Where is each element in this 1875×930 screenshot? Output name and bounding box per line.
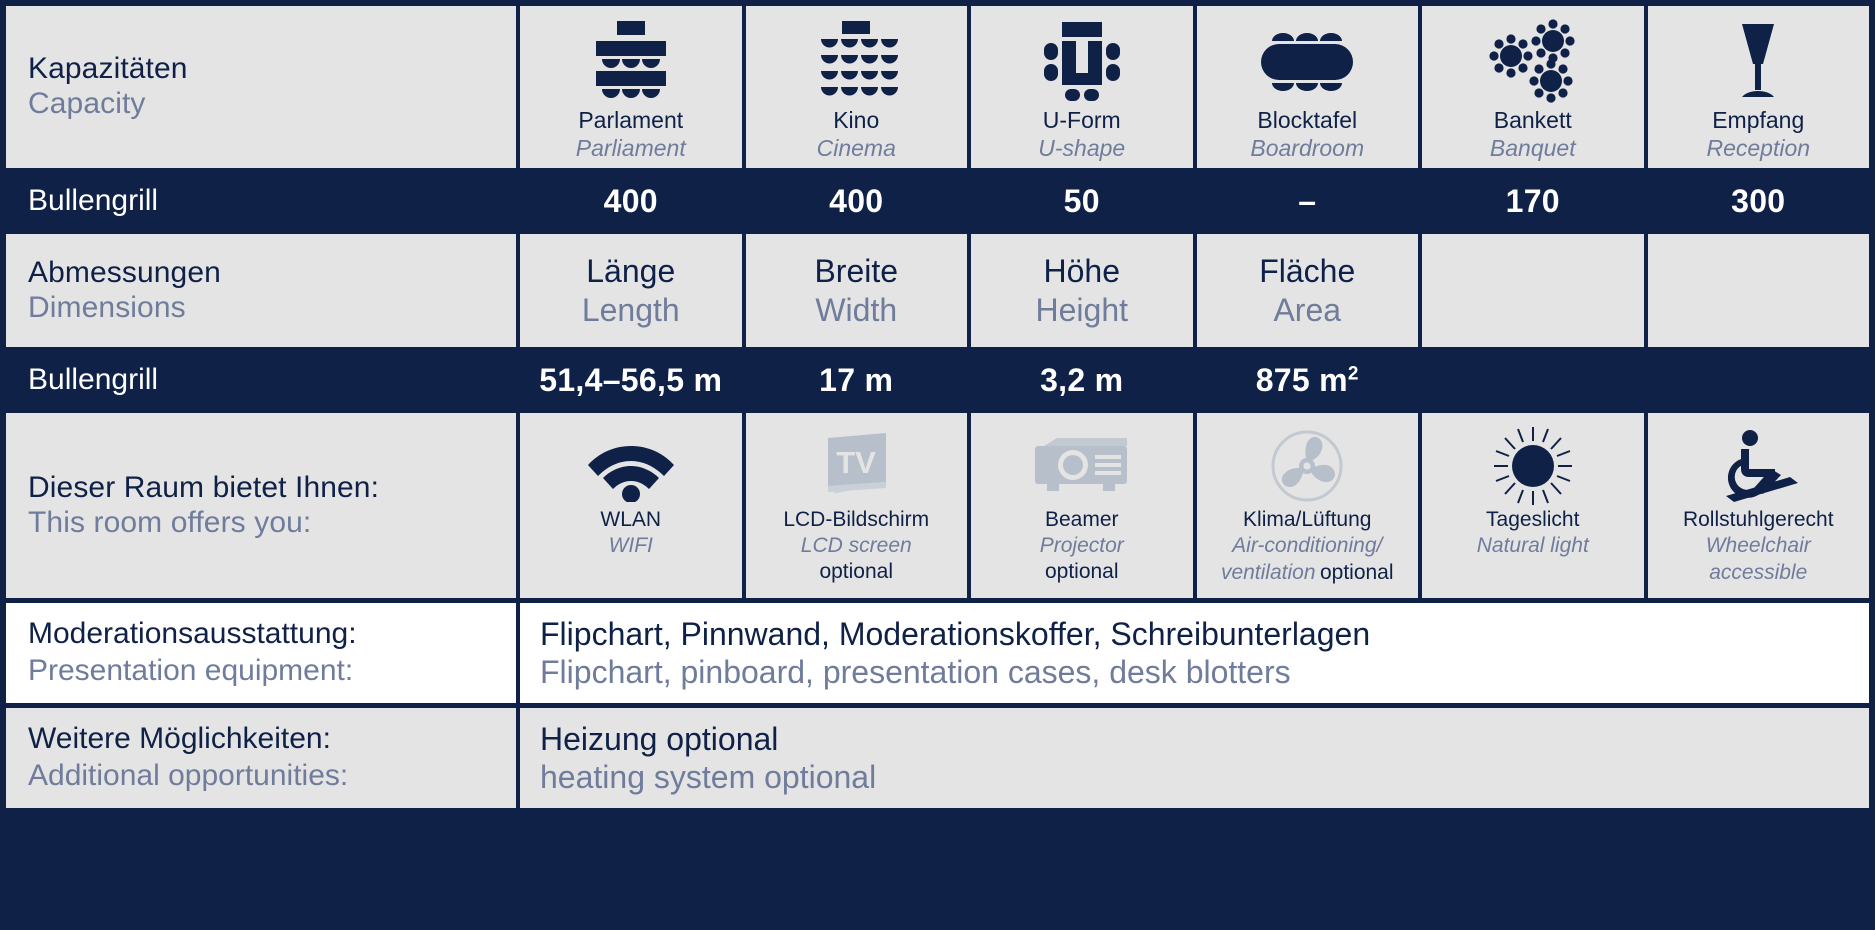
capacity-column-banquet: Bankett Banquet (1422, 6, 1644, 168)
amenity-projector: Beamer Projector optional (971, 413, 1193, 598)
amenities-row-label: Dieser Raum bietet Ihnen: This room offe… (6, 413, 516, 598)
capacity-value-cinema: 400 (746, 173, 968, 229)
value-text: – (1298, 183, 1316, 220)
capacity-column-boardroom: Blocktafel Boardroom (1197, 6, 1419, 168)
value-text: 50 (1064, 183, 1100, 220)
amenity-name-en: Projector (1040, 533, 1124, 559)
cinema-seating-icon (750, 18, 964, 104)
capacity-value-parliament: 400 (520, 173, 742, 229)
area-superscript: 2 (1348, 363, 1359, 384)
wheelchair-accessible-icon (1652, 425, 1866, 507)
capacity-label-de: Kapazitäten (28, 52, 516, 87)
value-text: 400 (604, 183, 658, 220)
value-text: 3,2 m (1040, 362, 1123, 399)
amenity-name-de: WLAN (600, 507, 661, 533)
value-text: 300 (1731, 183, 1785, 220)
amenity-lcd-screen: TV LCD-Bildschirm LCD screen optional (746, 413, 968, 598)
dimensions-column-length: Länge Length (520, 234, 742, 347)
amenity-natural-light: Tageslicht Natural light (1422, 413, 1644, 598)
dimensions-label-de: Abmessungen (28, 256, 516, 291)
dimension-name-de: Höhe (1044, 252, 1121, 290)
value-text: 51,4–56,5 m (539, 362, 722, 399)
air-conditioning-fan-icon (1201, 425, 1415, 507)
capacity-name-en: Reception (1706, 134, 1810, 162)
dimensions-column-empty-2 (1648, 234, 1870, 347)
presentation-label-en: Presentation equipment: (28, 653, 516, 690)
banquet-seating-icon (1426, 18, 1640, 104)
amenity-name-de: Klima/Lüftung (1221, 507, 1394, 533)
dimension-value-empty-2 (1648, 352, 1870, 408)
amenity-wheelchair-accessible: Rollstuhlgerecht Wheelchair accessible (1648, 413, 1870, 598)
presentation-label-de: Moderationsausstattung: (28, 616, 516, 653)
value-text: 400 (829, 183, 883, 220)
parliament-seating-icon (524, 18, 738, 104)
presentation-value-en: Flipchart, pinboard, presentation cases,… (540, 653, 1291, 691)
additional-row-label: Weitere Möglichkeiten: Additional opport… (6, 708, 516, 808)
capacity-label-en: Capacity (28, 87, 516, 122)
capacity-name-de: Parlament (576, 106, 686, 134)
dimension-value-width: 17 m (746, 352, 968, 408)
dimensions-column-width: Breite Width (746, 234, 968, 347)
presentation-equipment-row: Moderationsausstattung: Presentation equ… (0, 603, 1875, 703)
dimension-name-de: Breite (814, 252, 898, 290)
value-text-area: 875 m2 (1256, 362, 1359, 399)
dimension-name-en: Width (815, 291, 897, 329)
amenity-name-de: Tageslicht (1477, 507, 1589, 533)
capacity-column-cinema: Kino Cinema (746, 6, 968, 168)
amenity-name-de: Beamer (1040, 507, 1124, 533)
additional-value-cell: Heizung optional heating system optional (520, 708, 1869, 808)
dimension-name-en: Area (1273, 291, 1341, 329)
dimension-name-en: Length (582, 291, 680, 329)
capacity-values-row: Bullengrill 400 400 50 – 170 300 (0, 173, 1875, 229)
dimension-value-length: 51,4–56,5 m (520, 352, 742, 408)
tv-screen-icon: TV (750, 425, 964, 507)
capacity-name-en: Banquet (1490, 134, 1576, 162)
capacity-row-label: Kapazitäten Capacity (6, 6, 516, 168)
capacity-name-en: Parliament (576, 134, 686, 162)
dimensions-row-label: Abmessungen Dimensions (6, 234, 516, 347)
dimension-value-area: 875 m2 (1197, 352, 1419, 408)
dimension-name-de: Fläche (1259, 252, 1355, 290)
dimension-name-en: Height (1036, 291, 1129, 329)
amenity-wifi: WLAN WIFI (520, 413, 742, 598)
additional-label-de: Weitere Möglichkeiten: (28, 721, 516, 758)
additional-label-en: Additional opportunities: (28, 758, 516, 795)
capacity-column-parliament: Parlament Parliament (520, 6, 742, 168)
room-specification-table: Kapazitäten Capacity Parlament (0, 0, 1875, 930)
amenity-optional-flag: optional (1320, 561, 1394, 584)
u-shape-seating-icon (975, 18, 1189, 104)
value-text: 17 m (819, 362, 893, 399)
amenities-label-en: This room offers you: (28, 506, 516, 541)
capacity-name-de: Empfang (1706, 106, 1810, 134)
capacity-name-de: Blocktafel (1250, 106, 1364, 134)
reception-glass-icon (1652, 18, 1866, 104)
dimension-name-de: Länge (586, 252, 675, 290)
amenity-name-en: LCD screen (783, 533, 929, 559)
value-text: 170 (1506, 183, 1560, 220)
capacity-name-en: Boardroom (1250, 134, 1364, 162)
dimension-value-height: 3,2 m (971, 352, 1193, 408)
projector-icon (975, 425, 1189, 507)
amenity-air-conditioning: Klima/Lüftung Air-conditioning/ ventilat… (1197, 413, 1419, 598)
amenity-name-en-line2: ventilation (1221, 561, 1316, 584)
capacity-column-u-shape: U-Form U-shape (971, 6, 1193, 168)
dimensions-column-area: Fläche Area (1197, 234, 1419, 347)
room-name: Bullengrill (28, 184, 516, 218)
dimensions-column-height: Höhe Height (971, 234, 1193, 347)
presentation-row-label: Moderationsausstattung: Presentation equ… (6, 603, 516, 703)
additional-value-de: Heizung optional (540, 720, 778, 758)
capacity-header-row: Kapazitäten Capacity Parlament (0, 6, 1875, 168)
dimension-value-empty-1 (1422, 352, 1644, 408)
area-number: 875 m (1256, 362, 1348, 398)
amenity-name-de: Rollstuhlgerecht (1683, 507, 1834, 533)
amenity-name-en-line1: Wheelchair (1683, 533, 1834, 559)
additional-value-en: heating system optional (540, 758, 876, 796)
capacity-column-reception: Empfang Reception (1648, 6, 1870, 168)
capacity-value-banquet: 170 (1422, 173, 1644, 229)
amenity-optional-flag: optional (783, 560, 929, 584)
capacity-room-name-cell: Bullengrill (6, 173, 516, 229)
amenities-row: Dieser Raum bietet Ihnen: This room offe… (0, 413, 1875, 598)
dimensions-values-row: Bullengrill 51,4–56,5 m 17 m 3,2 m 875 m… (0, 352, 1875, 408)
dimensions-header-row: Abmessungen Dimensions Länge Length Brei… (0, 234, 1875, 347)
amenities-label-de: Dieser Raum bietet Ihnen: (28, 471, 516, 506)
svg-text:TV: TV (836, 445, 876, 480)
amenity-name-en-line2: accessible (1683, 560, 1834, 586)
dimensions-column-empty-1 (1422, 234, 1644, 347)
dimensions-label-en: Dimensions (28, 291, 516, 326)
capacity-name-en: Cinema (817, 134, 896, 162)
capacity-name-de: U-Form (1038, 106, 1125, 134)
sun-daylight-icon (1426, 425, 1640, 507)
room-name: Bullengrill (28, 363, 516, 397)
amenity-optional-flag: optional (1040, 560, 1124, 584)
presentation-value-cell: Flipchart, Pinnwand, Moderationskoffer, … (520, 603, 1869, 703)
boardroom-seating-icon (1201, 18, 1415, 104)
presentation-value-de: Flipchart, Pinnwand, Moderationskoffer, … (540, 615, 1370, 653)
capacity-name-de: Kino (817, 106, 896, 134)
capacity-value-u-shape: 50 (971, 173, 1193, 229)
amenity-name-en-line1: Air-conditioning/ (1221, 533, 1394, 559)
wifi-icon (524, 425, 738, 507)
amenity-name-de: LCD-Bildschirm (783, 507, 929, 533)
capacity-value-reception: 300 (1648, 173, 1870, 229)
amenity-name-en: WIFI (600, 533, 661, 559)
capacity-value-boardroom: – (1197, 173, 1419, 229)
additional-opportunities-row: Weitere Möglichkeiten: Additional opport… (0, 708, 1875, 808)
dimensions-room-name-cell: Bullengrill (6, 352, 516, 408)
capacity-name-de: Bankett (1490, 106, 1576, 134)
capacity-name-en: U-shape (1038, 134, 1125, 162)
amenity-name-en: Natural light (1477, 533, 1589, 559)
